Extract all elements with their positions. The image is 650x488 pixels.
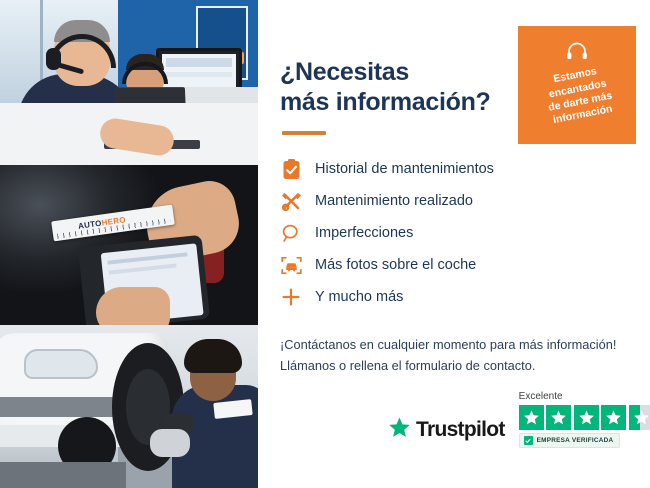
trustpilot-wordmark: Trustpilot <box>416 418 505 442</box>
car-inspection-photo: AUTOHERO <box>0 165 258 325</box>
list-item: Y mucho más <box>280 281 650 313</box>
crossed-tools-icon <box>280 190 302 212</box>
star-filled <box>574 405 599 430</box>
star-filled <box>601 405 626 430</box>
list-item: Mantenimiento realizado <box>280 185 650 217</box>
mechanic-photo <box>0 325 258 488</box>
verified-label: EMPRESA VERIFICADA <box>537 437 614 444</box>
content-panel: ¿Necesitas más información? Historial de… <box>258 0 650 488</box>
title-divider <box>282 131 326 135</box>
magnifier-icon <box>280 222 302 244</box>
plus-icon <box>280 286 302 308</box>
list-item: Historial de mantenimientos <box>280 153 650 185</box>
rating-label: Excelente <box>519 391 563 402</box>
info-banner: AUTOHERO ¿Nece <box>0 0 650 488</box>
headlight-decor <box>24 349 98 379</box>
contact-line-1: ¡Contáctanos en cualquier momento para m… <box>280 337 616 352</box>
photo-column: AUTOHERO <box>0 0 258 488</box>
star-rating <box>519 405 650 430</box>
trustpilot-rating: Excelente EMPRESA VERIFICADA <box>519 391 650 448</box>
inspector-hand-lower <box>96 287 170 325</box>
contact-text: ¡Contáctanos en cualquier momento para m… <box>280 335 650 376</box>
clipboard-check-icon <box>280 158 302 180</box>
headline-line-2: más información? <box>280 88 491 116</box>
list-item: Imperfecciones <box>280 217 650 249</box>
mechanic-hair <box>184 339 242 373</box>
list-item-label: Y mucho más <box>315 289 403 305</box>
star-filled <box>546 405 571 430</box>
list-item-label: Imperfecciones <box>315 225 413 241</box>
car-focus-icon <box>280 254 302 276</box>
contact-line-2: Llámanos o rellena el formulario de cont… <box>280 358 535 373</box>
verified-badge: EMPRESA VERIFICADA <box>519 433 621 448</box>
trustpilot-star-icon <box>388 416 411 444</box>
feature-list: Historial de mantenimientos Mantenimient… <box>280 153 650 313</box>
status-badge: Estamos encantados de darte más informac… <box>518 26 636 144</box>
list-item-label: Mantenimiento realizado <box>315 193 473 209</box>
list-item: Más fotos sobre el coche <box>280 249 650 281</box>
trustpilot-logo[interactable]: Trustpilot <box>388 416 505 448</box>
car-lift-decor <box>0 462 126 488</box>
star-filled <box>519 405 544 430</box>
list-item-label: Historial de mantenimientos <box>315 161 494 177</box>
list-item-label: Más fotos sobre el coche <box>315 257 476 273</box>
call-center-photo <box>0 0 258 165</box>
trustpilot-widget[interactable]: Trustpilot Excelente EMPRESA VERIFICADA <box>388 391 650 448</box>
star-half <box>629 405 650 430</box>
headline-line-1: ¿Necesitas <box>280 58 409 86</box>
mechanic-glove-lower <box>150 429 190 457</box>
check-icon <box>524 436 533 445</box>
grille-decor <box>0 397 118 417</box>
badge-text: Estamos encantados de darte más informac… <box>508 16 646 154</box>
